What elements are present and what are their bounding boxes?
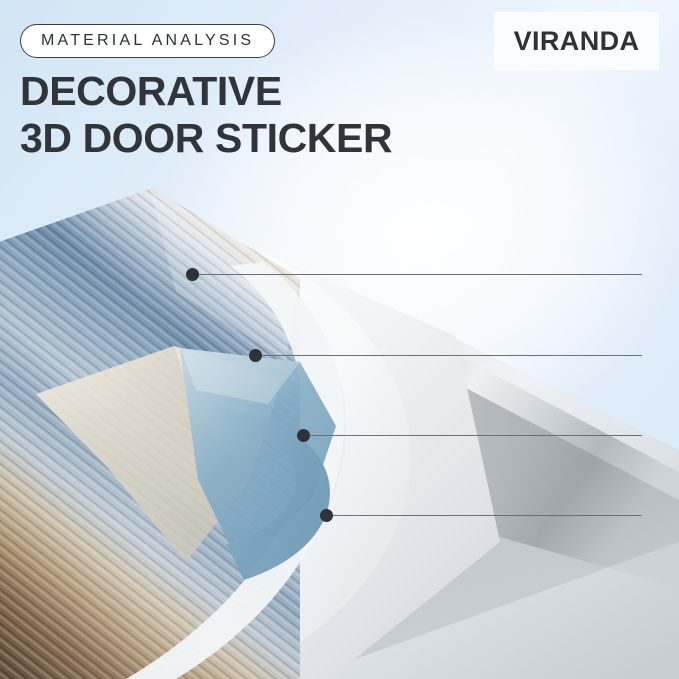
callout-leader-3	[310, 435, 642, 436]
brand-logo-box: VIRANDA	[495, 13, 658, 69]
callout-leader-1	[199, 274, 642, 275]
callout-dot-1	[186, 268, 199, 281]
callout-leader-4	[333, 515, 642, 516]
callout-leader-2	[262, 355, 642, 356]
title-line-2: 3D DOOR STICKER	[20, 115, 392, 162]
eyebrow-text: MATERIAL ANALYSIS	[41, 32, 254, 50]
callout-dot-2	[249, 349, 262, 362]
sticker-cutaway-illustration	[0, 150, 679, 679]
callout-dot-4	[320, 509, 333, 522]
eyebrow-badge: MATERIAL ANALYSIS	[20, 24, 275, 58]
brand-name: VIRANDA	[514, 26, 640, 57]
title-line-1: DECORATIVE	[20, 68, 282, 114]
poster-canvas: MATERIAL ANALYSIS DECORATIVE 3D DOOR STI…	[0, 0, 679, 679]
page-title: DECORATIVE 3D DOOR STICKER	[20, 68, 392, 162]
callout-dot-3	[297, 429, 310, 442]
